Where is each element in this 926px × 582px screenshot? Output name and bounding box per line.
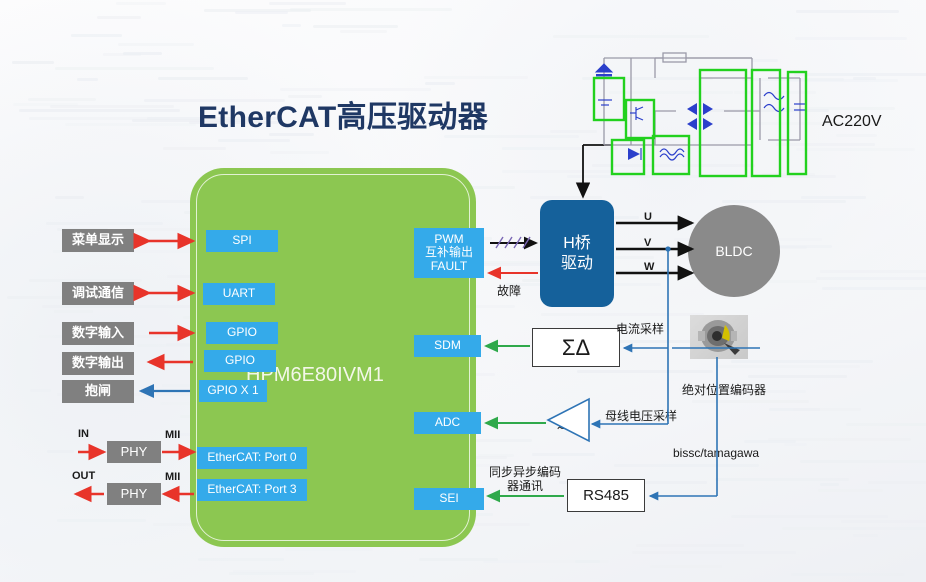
peripheral-sei[interactable]: SEI <box>414 488 484 510</box>
io-box-digital-input[interactable]: 数字输入 <box>62 322 134 345</box>
peripheral-uart[interactable]: UART <box>203 283 275 305</box>
peripheral-spi[interactable]: SPI <box>206 230 278 252</box>
page-title: EtherCAT高压驱动器 <box>198 92 488 136</box>
label-bus-voltage-sample: 母线电压采样 <box>605 410 677 424</box>
encoder-photo <box>690 315 748 359</box>
rs485-block[interactable]: RS485 <box>567 479 645 512</box>
h-bridge-driver[interactable]: H桥 驱动 <box>540 200 614 307</box>
label-encoder-protocol: bissc/tamagawa <box>673 447 759 461</box>
peripheral-sdm[interactable]: SDM <box>414 335 481 357</box>
label-opamp: 运放 <box>557 418 581 432</box>
peripheral-gpio-1[interactable]: GPIO <box>206 322 278 344</box>
phy-box-in[interactable]: PHY <box>107 441 161 463</box>
label-phase-v: V <box>644 237 651 250</box>
label-absolute-encoder: 绝对位置编码器 <box>682 384 766 398</box>
label-encoder-comm: 同步异步编码 器通讯 <box>489 466 561 494</box>
peripheral-ethercat-port3[interactable]: EtherCAT: Port 3 <box>197 479 307 501</box>
label-mii-top: MII <box>165 429 180 442</box>
peripheral-adc[interactable]: ADC <box>414 412 481 434</box>
label-fault: 故障 <box>497 285 521 299</box>
peripheral-pwm-fault[interactable]: PWM 互补输出 FAULT <box>414 228 484 278</box>
label-in: IN <box>78 428 89 441</box>
sigma-delta-block[interactable]: ΣΔ <box>532 328 620 367</box>
peripheral-gpio-x1[interactable]: GPIO X 1 <box>199 380 267 402</box>
peripheral-ethercat-port0[interactable]: EtherCAT: Port 0 <box>197 447 307 469</box>
label-out: OUT <box>72 470 95 483</box>
label-current-sample: 电流采样 <box>616 323 664 337</box>
io-box-debug-comm[interactable]: 调试通信 <box>62 282 134 305</box>
io-box-digital-output[interactable]: 数字输出 <box>62 352 134 375</box>
diagram-canvas: EtherCAT高压驱动器 HPM6E80IVM1 菜单显示 调试通信 数字输入… <box>0 0 926 582</box>
label-mii-bottom: MII <box>165 471 180 484</box>
io-box-menu-display[interactable]: 菜单显示 <box>62 229 134 252</box>
bldc-motor[interactable]: BLDC <box>688 205 780 297</box>
io-box-brake[interactable]: 抱闸 <box>62 380 134 403</box>
label-phase-u: U <box>644 211 652 224</box>
peripheral-gpio-2[interactable]: GPIO <box>204 350 276 372</box>
label-ac220v: AC220V <box>822 113 882 131</box>
phy-box-out[interactable]: PHY <box>107 483 161 505</box>
label-phase-w: W <box>644 261 654 274</box>
